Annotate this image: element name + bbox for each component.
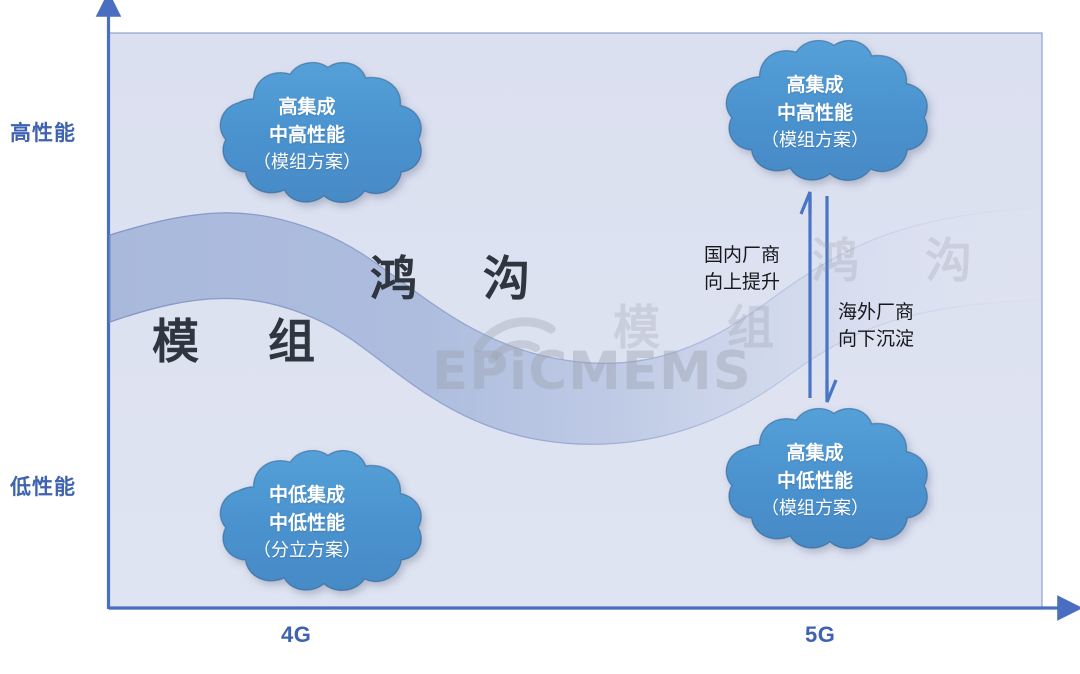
x-axis-label-4g: 4G bbox=[281, 622, 311, 648]
y-axis-label-high: 高性能 bbox=[10, 117, 76, 147]
y-axis-label-low: 低性能 bbox=[10, 471, 76, 501]
diagram-svg bbox=[0, 0, 1080, 674]
x-axis-label-5g: 5G bbox=[805, 622, 835, 648]
diagram-canvas: 高性能 低性能 4G 5G 高集成 中高性能 （模组方案） 中低集成 中低性能 … bbox=[0, 0, 1080, 674]
